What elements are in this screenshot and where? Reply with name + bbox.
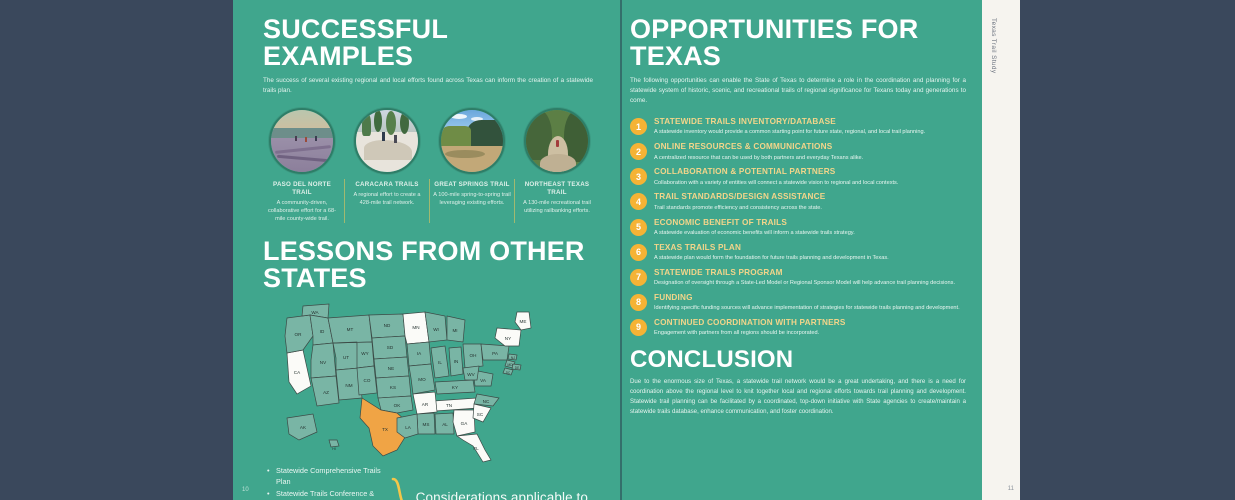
page-title-successful-examples: SUCCESSFUL EXAMPLES	[263, 16, 600, 70]
svg-text:AK: AK	[299, 425, 306, 430]
opportunities-blurb: The following opportunities can enable t…	[630, 76, 966, 105]
svg-text:OH: OH	[469, 353, 476, 358]
svg-text:MN: MN	[412, 325, 419, 330]
svg-text:HI: HI	[332, 447, 336, 451]
svg-text:PA: PA	[492, 351, 499, 356]
opportunity-title: CONTINUED COORDINATION WITH PARTNERS	[654, 318, 966, 327]
opportunity-number-badge: 1	[630, 118, 647, 135]
example-card[interactable]: CARACARA TRAILS A regional effort to cre…	[348, 108, 426, 224]
svg-text:DE: DE	[514, 366, 518, 370]
example-name: PASO DEL NORTE TRAIL	[263, 181, 341, 198]
right-page: OPPORTUNITIES FOR TEXAS The following op…	[622, 0, 982, 500]
opportunity-item[interactable]: 9 CONTINUED COORDINATION WITH PARTNERS E…	[630, 318, 966, 338]
conclusion-section: CONCLUSION Due to the enormous size of T…	[630, 348, 966, 416]
opportunity-title: TRAIL STANDARDS/DESIGN ASSISTANCE	[654, 192, 966, 201]
svg-text:AZ: AZ	[323, 390, 329, 395]
svg-text:MO: MO	[418, 377, 426, 382]
right-page-number: 11	[1008, 486, 1014, 492]
opportunity-number-badge: 5	[630, 219, 647, 236]
opportunity-item[interactable]: 5 ECONOMIC BENEFIT OF TRAILS A statewide…	[630, 218, 966, 238]
svg-text:WA: WA	[311, 310, 319, 315]
opportunity-number-badge: 7	[630, 269, 647, 286]
svg-text:IL: IL	[438, 360, 442, 365]
svg-text:KS: KS	[389, 385, 395, 390]
opportunity-desc: A centralized resource that can be used …	[654, 154, 966, 162]
example-desc: A 130-mile recreational trail utilizing …	[518, 199, 596, 215]
svg-text:CO: CO	[363, 378, 370, 383]
svg-text:WY: WY	[361, 351, 368, 356]
side-tab-label: Texas Trail Study	[990, 18, 997, 73]
page-title-lessons-from-other-states: LESSONS FROM OTHER STATES	[263, 238, 600, 292]
svg-text:MI: MI	[452, 328, 457, 333]
opportunity-number-badge: 9	[630, 319, 647, 336]
example-card[interactable]: GREAT SPRINGS TRAIL A 100-mile spring-to…	[433, 108, 511, 224]
svg-text:NM: NM	[345, 383, 352, 388]
svg-text:VA: VA	[480, 378, 487, 383]
svg-text:SD: SD	[386, 345, 393, 350]
opportunities-list: 1 STATEWIDE TRAILS INVENTORY/DATABASE A …	[630, 117, 966, 337]
opportunity-item[interactable]: 2 ONLINE RESOURCES & COMMUNICATIONS A ce…	[630, 142, 966, 162]
example-desc: A regional effort to create a 428-mile t…	[348, 191, 426, 207]
opportunity-desc: Collaboration with a variety of entities…	[654, 179, 966, 187]
svg-text:ND: ND	[383, 323, 390, 328]
opportunity-desc: A statewide inventory would provide a co…	[654, 128, 966, 136]
opportunity-item[interactable]: 3 COLLABORATION & POTENTIAL PARTNERS Col…	[630, 167, 966, 187]
considerations-callout: Considerations applicable to Texas	[416, 489, 600, 500]
example-desc: A 100-mile spring-to-spring trail levera…	[433, 191, 511, 207]
svg-text:WI: WI	[433, 327, 439, 332]
opportunity-number-badge: 3	[630, 168, 647, 185]
opportunity-number-badge: 8	[630, 294, 647, 311]
paso-del-norte-photo	[269, 108, 335, 174]
considerations-list: Statewide Comprehensive Trails Plan Stat…	[267, 465, 384, 500]
svg-text:IN: IN	[453, 359, 458, 364]
svg-text:AR: AR	[421, 402, 428, 407]
svg-text:FL: FL	[473, 446, 479, 451]
document-edge-tab: Texas Trail Study 11	[982, 0, 1020, 500]
svg-text:MS: MS	[422, 422, 429, 427]
svg-text:AL: AL	[442, 422, 448, 427]
opportunity-desc: Trail standards promote efficiency and c…	[654, 204, 966, 212]
curly-brace-icon	[390, 477, 410, 500]
example-card[interactable]: NORTHEAST TEXAS TRAIL A 130-mile recreat…	[518, 108, 596, 224]
list-item: Statewide Comprehensive Trails Plan	[267, 465, 384, 489]
svg-text:NJ: NJ	[510, 356, 514, 360]
opportunity-item[interactable]: 4 TRAIL STANDARDS/DESIGN ASSISTANCE Trai…	[630, 192, 966, 212]
page-title-conclusion: CONCLUSION	[630, 348, 966, 372]
opportunity-desc: A statewide evaluation of economic benef…	[654, 229, 966, 237]
svg-text:OR: OR	[294, 332, 302, 337]
example-name: GREAT SPRINGS TRAIL	[433, 181, 511, 189]
svg-text:NV: NV	[319, 360, 326, 365]
examples-thumbnail-row: PASO DEL NORTE TRAIL A community-driven,…	[263, 108, 600, 224]
example-desc: A community-driven, collaborative effort…	[263, 199, 341, 223]
left-page-number: 10	[242, 487, 249, 493]
document-spread: SUCCESSFUL EXAMPLES The success of sever…	[233, 0, 1020, 500]
successful-examples-blurb: The success of several existing regional…	[263, 76, 593, 96]
opportunity-title: TEXAS TRAILS PLAN	[654, 243, 966, 252]
svg-text:CA: CA	[293, 370, 300, 375]
opportunity-title: ECONOMIC BENEFIT OF TRAILS	[654, 218, 966, 227]
page-title-opportunities: OPPORTUNITIES FOR TEXAS	[630, 16, 966, 70]
opportunity-desc: Engagement with partners from all region…	[654, 329, 966, 337]
svg-text:NE: NE	[387, 366, 393, 371]
great-springs-trail-photo	[439, 108, 505, 174]
us-states-map[interactable]: CA OR WA ID NV AZ UT NM MT WY CO ND SD N…	[233, 298, 620, 463]
example-card[interactable]: PASO DEL NORTE TRAIL A community-driven,…	[263, 108, 341, 224]
opportunity-desc: A statewide plan would form the foundati…	[654, 254, 966, 262]
list-item: Statewide Trails Conference & Summit	[267, 488, 384, 500]
svg-text:ID: ID	[319, 329, 324, 334]
svg-text:ME: ME	[519, 319, 526, 324]
svg-text:WV: WV	[467, 372, 475, 377]
svg-text:OK: OK	[393, 403, 401, 408]
svg-text:NC: NC	[482, 399, 489, 404]
opportunity-title: COLLABORATION & POTENTIAL PARTNERS	[654, 167, 966, 176]
svg-text:NY: NY	[504, 336, 510, 341]
svg-text:DC: DC	[505, 371, 510, 375]
opportunity-item[interactable]: 8 FUNDING Identifying specific funding s…	[630, 293, 966, 313]
example-name: CARACARA TRAILS	[348, 181, 426, 189]
svg-text:KY: KY	[451, 385, 457, 390]
opportunity-desc: Identifying specific funding sources wil…	[654, 304, 966, 312]
opportunity-title: FUNDING	[654, 293, 966, 302]
svg-text:SC: SC	[476, 412, 483, 417]
opportunity-desc: Designation of oversight through a State…	[654, 279, 966, 287]
caracara-trails-photo	[354, 108, 420, 174]
svg-text:UT: UT	[342, 355, 348, 360]
northeast-texas-trail-photo	[524, 108, 590, 174]
svg-text:MT: MT	[346, 327, 353, 332]
example-name: NORTHEAST TEXAS TRAIL	[518, 181, 596, 198]
opportunity-title: STATEWIDE TRAILS PROGRAM	[654, 268, 966, 277]
opportunity-item[interactable]: 6 TEXAS TRAILS PLAN A statewide plan wou…	[630, 243, 966, 263]
svg-text:GA: GA	[460, 421, 468, 426]
opportunity-number-badge: 2	[630, 143, 647, 160]
opportunity-item[interactable]: 7 STATEWIDE TRAILS PROGRAM Designation o…	[630, 268, 966, 288]
opportunity-number-badge: 6	[630, 244, 647, 261]
opportunity-title: STATEWIDE TRAILS INVENTORY/DATABASE	[654, 117, 966, 126]
opportunity-number-badge: 4	[630, 193, 647, 210]
opportunity-title: ONLINE RESOURCES & COMMUNICATIONS	[654, 142, 966, 151]
svg-text:LA: LA	[405, 425, 412, 430]
opportunity-item[interactable]: 1 STATEWIDE TRAILS INVENTORY/DATABASE A …	[630, 117, 966, 137]
svg-text:TX: TX	[382, 427, 388, 432]
left-page: SUCCESSFUL EXAMPLES The success of sever…	[233, 0, 620, 500]
conclusion-body: Due to the enormous size of Texas, a sta…	[630, 377, 966, 416]
considerations-block: Statewide Comprehensive Trails Plan Stat…	[233, 465, 620, 500]
svg-text:TN: TN	[445, 403, 451, 408]
